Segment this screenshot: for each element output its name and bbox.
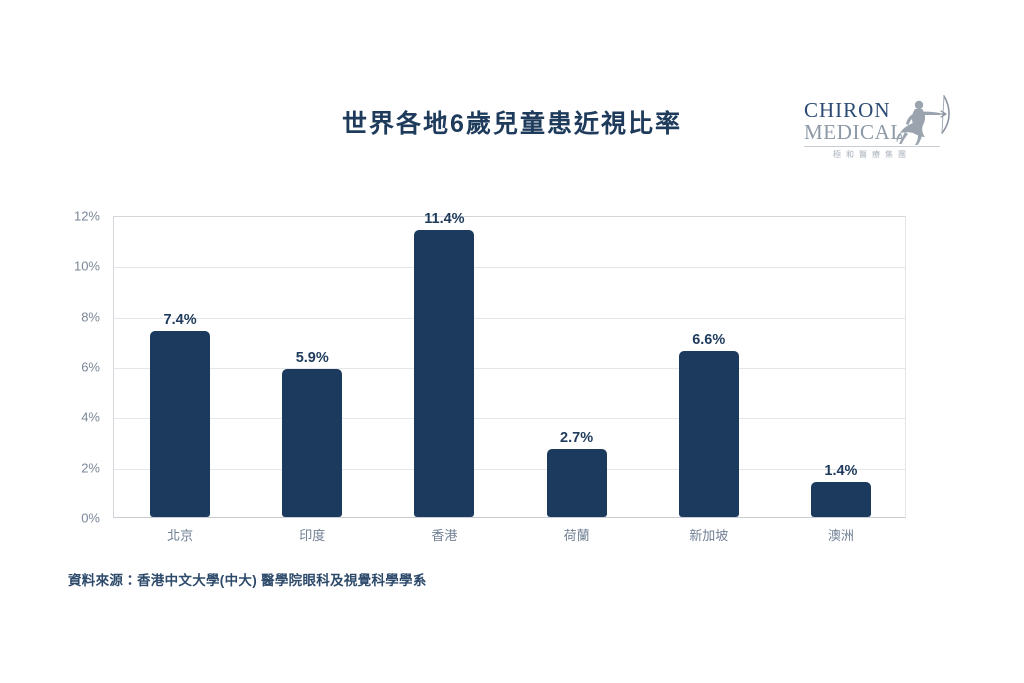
x-axis-tick-label: 香港 bbox=[378, 525, 510, 544]
x-axis-tick-label: 印度 bbox=[246, 525, 378, 544]
y-axis-tick-label: 0% bbox=[40, 511, 100, 526]
bar[interactable] bbox=[547, 449, 607, 517]
bar-value-label: 11.4% bbox=[378, 211, 510, 227]
logo-subtitle: 極和醫療集團 bbox=[804, 149, 940, 160]
brand-logo: CHIRON MEDICAL 極和醫療集團 bbox=[800, 92, 950, 164]
bar-group: 7.4%北京 bbox=[114, 215, 246, 517]
x-axis-tick-label: 新加坡 bbox=[643, 525, 775, 544]
y-axis-tick-label: 2% bbox=[40, 460, 100, 475]
centaur-archer-icon bbox=[896, 92, 952, 146]
y-axis-tick-label: 6% bbox=[40, 360, 100, 375]
x-axis-tick-label: 荷蘭 bbox=[511, 525, 643, 544]
bar-group: 11.4%香港 bbox=[378, 215, 510, 517]
bar[interactable] bbox=[282, 369, 342, 517]
y-axis-tick-label: 4% bbox=[40, 410, 100, 425]
bar[interactable] bbox=[679, 351, 739, 517]
chart-plot-area: 7.4%北京5.9%印度11.4%香港2.7%荷蘭6.6%新加坡1.4%澳洲 bbox=[113, 216, 906, 518]
bar-group: 6.6%新加坡 bbox=[643, 215, 775, 517]
y-axis-tick-label: 10% bbox=[40, 259, 100, 274]
y-axis-tick-label: 8% bbox=[40, 309, 100, 324]
logo-divider bbox=[804, 146, 940, 147]
bar[interactable] bbox=[414, 230, 474, 517]
bar[interactable] bbox=[150, 331, 210, 517]
bar-group: 1.4%澳洲 bbox=[775, 215, 907, 517]
bar-group: 5.9%印度 bbox=[246, 215, 378, 517]
y-axis-tick-label: 12% bbox=[40, 209, 100, 224]
bar-group: 2.7%荷蘭 bbox=[511, 215, 643, 517]
x-axis-tick-label: 澳洲 bbox=[775, 525, 907, 544]
bar-value-label: 5.9% bbox=[246, 350, 378, 366]
bar-value-label: 7.4% bbox=[114, 312, 246, 328]
bar-value-label: 2.7% bbox=[511, 430, 643, 446]
bar-value-label: 1.4% bbox=[775, 463, 907, 479]
bar-value-label: 6.6% bbox=[643, 332, 775, 348]
x-axis-tick-label: 北京 bbox=[114, 525, 246, 544]
source-note: 資料來源：香港中文大學(中大) 醫學院眼科及視覺科學學系 bbox=[68, 569, 427, 589]
bar[interactable] bbox=[811, 482, 871, 517]
